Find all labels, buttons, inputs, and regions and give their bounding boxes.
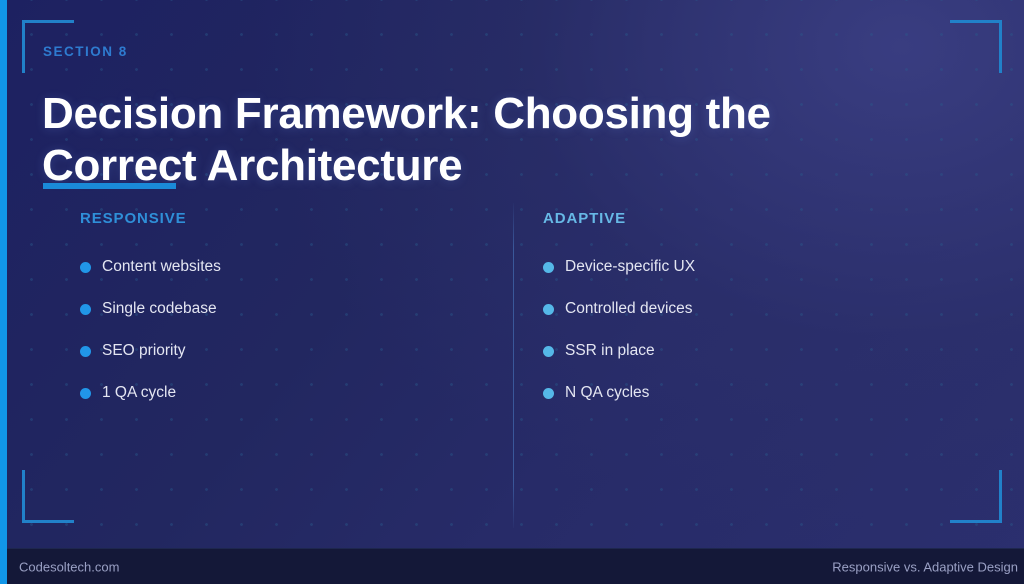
footer-brand: Codesoltech.com [19,559,119,574]
list-item-label: SSR in place [565,342,655,360]
list-item: SEO priority [80,330,480,372]
list-item: N QA cycles [543,372,943,414]
bracket-horizontal-line [950,20,1002,23]
list-item: Content websites [80,246,480,288]
list-item-label: SEO priority [102,342,186,360]
list-item-label: Content websites [102,258,221,276]
presentation-slide: SECTION 8 Decision Framework: Choosing t… [0,0,1024,584]
column-adaptive: ADAPTIVE Device-specific UX Controlled d… [543,210,943,414]
footer-deck-title: Responsive vs. Adaptive Design [832,559,1018,574]
list-item-label: Device-specific UX [565,258,695,276]
list-item-label: N QA cycles [565,384,649,402]
bracket-vertical-line [999,20,1002,73]
comparison-columns: RESPONSIVE Content websites Single codeb… [0,210,1024,530]
bullet-list-adaptive: Device-specific UX Controlled devices SS… [543,246,943,414]
bracket-horizontal-line [22,20,74,23]
column-divider [513,203,514,528]
corner-bracket-top-right [950,20,1002,73]
bullet-dot-icon [80,388,91,399]
list-item-label: Controlled devices [565,300,693,318]
bullet-dot-icon [543,262,554,273]
bullet-dot-icon [80,262,91,273]
bullet-dot-icon [80,304,91,315]
title-underline-accent [43,183,176,189]
section-label: SECTION 8 [43,44,128,59]
column-responsive: RESPONSIVE Content websites Single codeb… [80,210,480,414]
bracket-vertical-line [22,20,25,73]
column-heading-responsive: RESPONSIVE [80,210,480,227]
list-item: Single codebase [80,288,480,330]
list-item-label: Single codebase [102,300,217,318]
list-item: SSR in place [543,330,943,372]
list-item: Device-specific UX [543,246,943,288]
bullet-dot-icon [543,304,554,315]
list-item: Controlled devices [543,288,943,330]
list-item-label: 1 QA cycle [102,384,176,402]
bullet-dot-icon [80,346,91,357]
bullet-dot-icon [543,388,554,399]
bullet-dot-icon [543,346,554,357]
bullet-list-responsive: Content websites Single codebase SEO pri… [80,246,480,414]
list-item: 1 QA cycle [80,372,480,414]
left-accent-bar [0,0,7,584]
page-title: Decision Framework: Choosing the Correct… [42,88,872,192]
column-heading-adaptive: ADAPTIVE [543,210,943,227]
slide-footer: Codesoltech.com Responsive vs. Adaptive … [0,548,1024,584]
